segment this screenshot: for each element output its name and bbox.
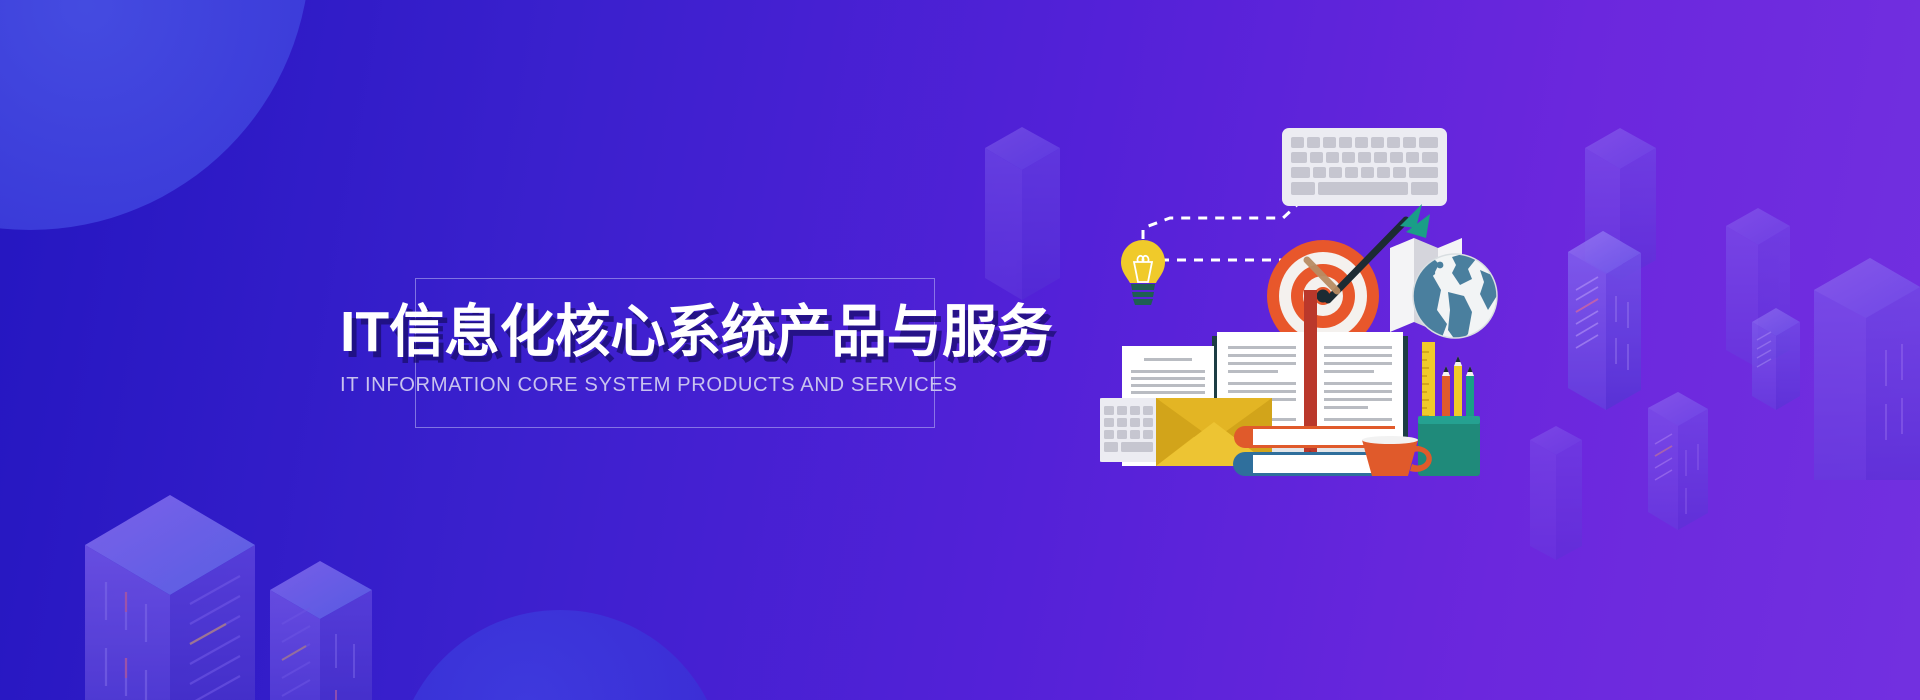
- building-right-5: [1814, 258, 1920, 480]
- page-subtitle: IT INFORMATION CORE SYSTEM PRODUCTS AND …: [340, 373, 990, 397]
- building-center-tall: [985, 127, 1060, 300]
- circle-bottom-left: [395, 610, 725, 700]
- hero-illustration: [1100, 110, 1520, 480]
- headline-block: IT信息化核心系统产品与服务 IT INFORMATION CORE SYSTE…: [415, 278, 935, 428]
- building-right-3: [1726, 208, 1790, 368]
- circle-top-left: [0, 0, 310, 230]
- keyboard-icon: [1282, 128, 1447, 206]
- hero-banner: IT信息化核心系统产品与服务 IT INFORMATION CORE SYSTE…: [0, 0, 1920, 700]
- building-right-4: [1752, 308, 1800, 410]
- building-right-1: [1585, 128, 1656, 280]
- building-bl-large: [85, 495, 255, 700]
- building-right-6: [1648, 392, 1708, 530]
- building-bl-small: [270, 561, 372, 700]
- building-right-2: [1568, 231, 1641, 410]
- page-title: IT信息化核心系统产品与服务: [340, 303, 980, 363]
- illustration-svg: [1100, 110, 1520, 480]
- building-right-7: [1530, 426, 1582, 560]
- headline-text-wrap: IT信息化核心系统产品与服务 IT INFORMATION CORE SYSTE…: [340, 303, 1000, 397]
- lightbulb-icon: [1121, 240, 1165, 305]
